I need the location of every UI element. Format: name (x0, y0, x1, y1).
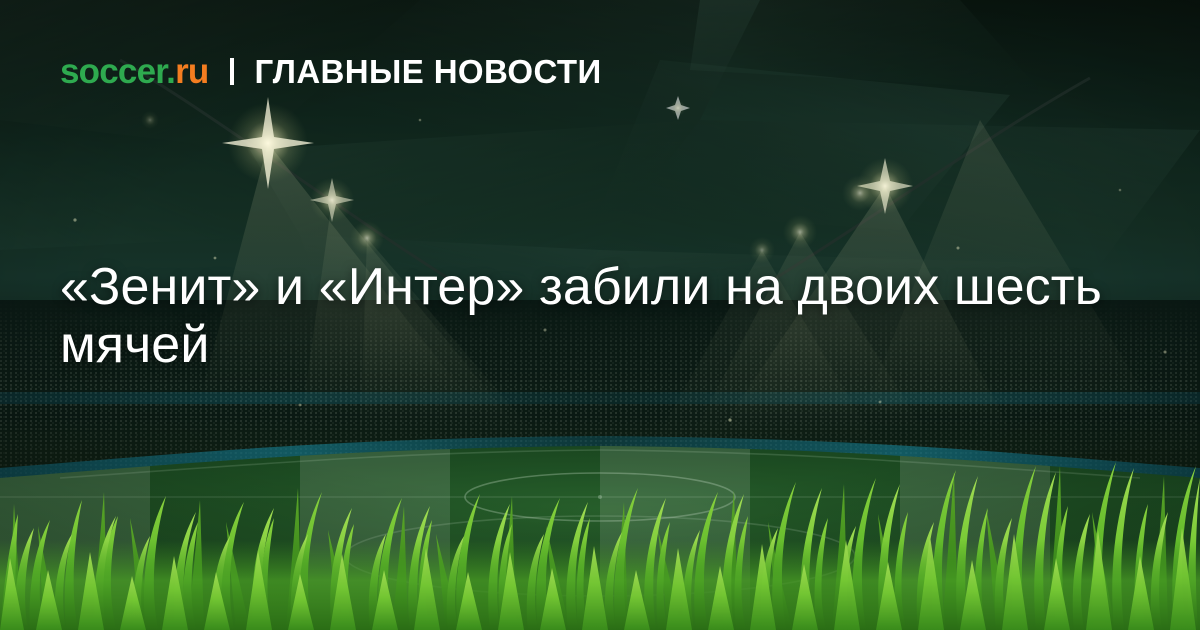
header-separator (230, 58, 234, 85)
floodlight-right-1 (857, 158, 913, 214)
floodlight-left-4 (141, 111, 159, 129)
floodlight-right-3 (783, 215, 817, 249)
logo-dot: . (166, 52, 175, 91)
logo-tld: ru (175, 52, 208, 91)
header-section-title: ГЛАВНЫЕ НОВОСТИ (254, 55, 601, 88)
floodlight-left-1 (222, 97, 314, 189)
floodlight-left-2 (310, 178, 354, 222)
logo-name: soccer (60, 52, 166, 91)
floodlight-left-3 (350, 221, 384, 255)
site-logo[interactable]: soccer.ru (60, 54, 208, 89)
floodlight-right-5 (666, 96, 690, 120)
article-headline: «Зенит» и «Интер» забили на двоих шесть … (60, 258, 1140, 374)
floodlight-right-2 (842, 175, 878, 211)
site-header: soccer.ru ГЛАВНЫЕ НОВОСТИ (60, 50, 602, 92)
news-card: soccer.ru ГЛАВНЫЕ НОВОСТИ «Зенит» и «Инт… (0, 0, 1200, 630)
